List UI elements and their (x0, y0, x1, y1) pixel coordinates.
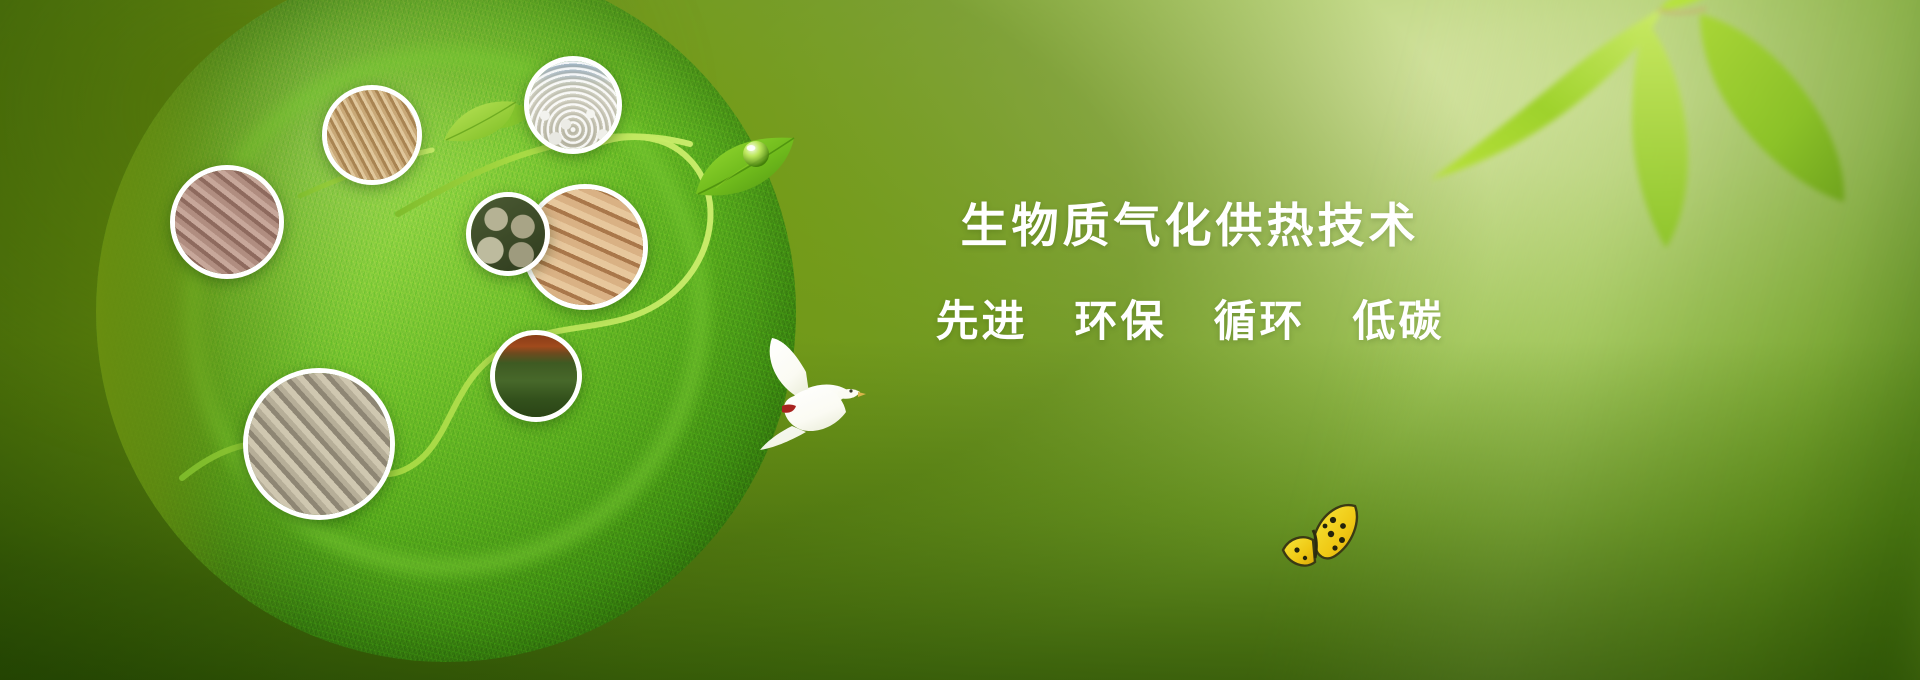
cotton-field-photo (529, 61, 617, 149)
bubble-bark-chips (170, 165, 284, 279)
subtitle-word-3: 循环 (1213, 287, 1305, 349)
flying-dove-icon (752, 330, 872, 450)
leaf-with-dew-icon (690, 128, 800, 208)
bubble-sorghum-crop (490, 330, 582, 422)
sorghum-crop-photo (495, 335, 577, 417)
bubble-cotton-field (524, 56, 622, 154)
bubble-straw-bundle (322, 85, 422, 185)
banner-subtitle: 先进 环保 循环 低碳 (880, 287, 1500, 349)
straw-bundle-photo (327, 90, 417, 180)
subtitle-word-2: 环保 (1075, 287, 1167, 349)
hero-banner: 生物质气化供热技术 先进 环保 循环 低碳 (0, 0, 1920, 680)
shell-nuts-photo (471, 197, 545, 271)
banner-text-block: 生物质气化供热技术 先进 环保 循环 低碳 (880, 198, 1500, 349)
bubble-wood-pellets (243, 368, 395, 520)
subtitle-word-1: 先进 (936, 287, 1028, 349)
leaf-icon (440, 96, 520, 148)
wood-pellets-photo (248, 373, 390, 515)
butterfly-icon (1275, 500, 1361, 570)
subtitle-word-4: 低碳 (1352, 287, 1444, 349)
page-title: 生物质气化供热技术 (880, 198, 1500, 253)
bubble-shell-nuts (466, 192, 550, 276)
bark-chips-photo (175, 170, 279, 274)
